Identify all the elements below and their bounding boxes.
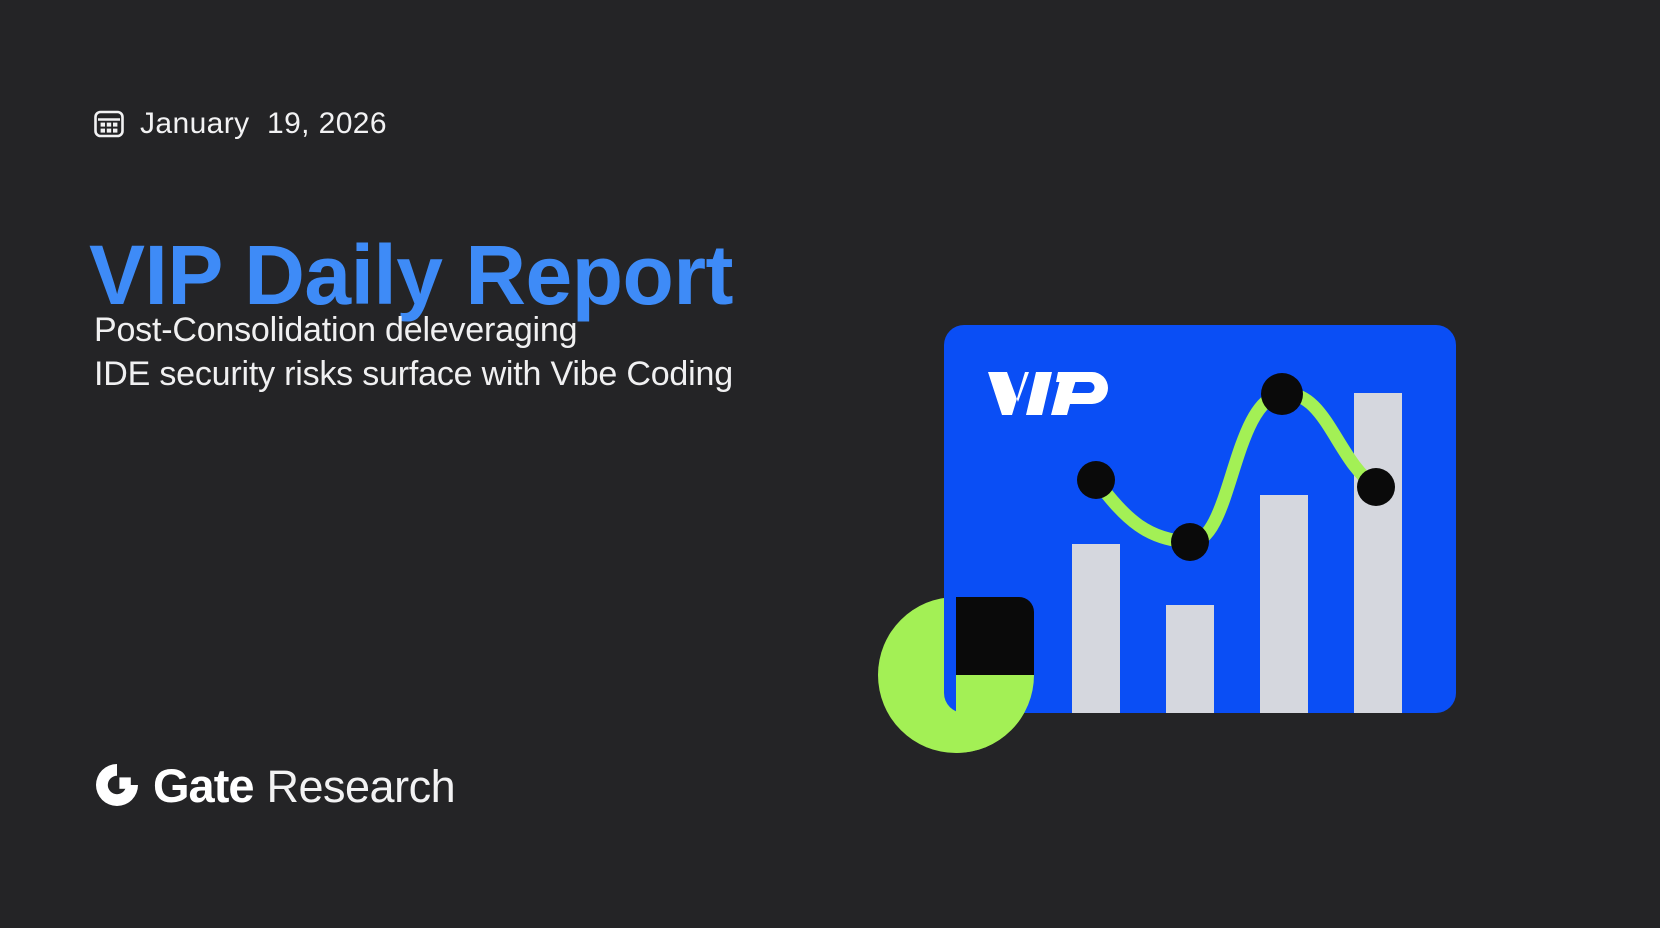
data-point-2 (1171, 523, 1209, 561)
bar-1 (1072, 544, 1120, 713)
data-point-1 (1077, 461, 1115, 499)
brand-name: Gate (153, 762, 254, 809)
subtitle-line-2: IDE security risks surface with Vibe Cod… (94, 352, 914, 396)
report-date: January 19, 2026 (140, 109, 387, 139)
report-cover: January 19, 2026 VIP Daily Report Post-C… (0, 0, 1660, 928)
bar-2 (1166, 605, 1214, 713)
vip-chart-illustration (876, 320, 1476, 770)
card-corner-overlay (956, 597, 1034, 753)
brand-suffix: Research (267, 764, 456, 809)
subtitle-line-1: Post-Consolidation deleveraging (94, 308, 914, 352)
brand-logo: Gate Research (94, 760, 455, 810)
date-row: January 19, 2026 (94, 103, 387, 145)
bar-3 (1260, 495, 1308, 713)
data-point-4 (1357, 468, 1395, 506)
page-title: VIP Daily Report (89, 231, 733, 319)
bar-4 (1354, 393, 1402, 713)
data-point-3 (1261, 373, 1303, 415)
calendar-icon (94, 109, 124, 139)
text-column: January 19, 2026 VIP Daily Report Post-C… (94, 0, 934, 928)
brand-wordmark: Gate Research (153, 762, 455, 809)
subtitle-block: Post-Consolidation deleveraging IDE secu… (94, 308, 914, 396)
gate-logo-mark-icon (94, 762, 140, 808)
